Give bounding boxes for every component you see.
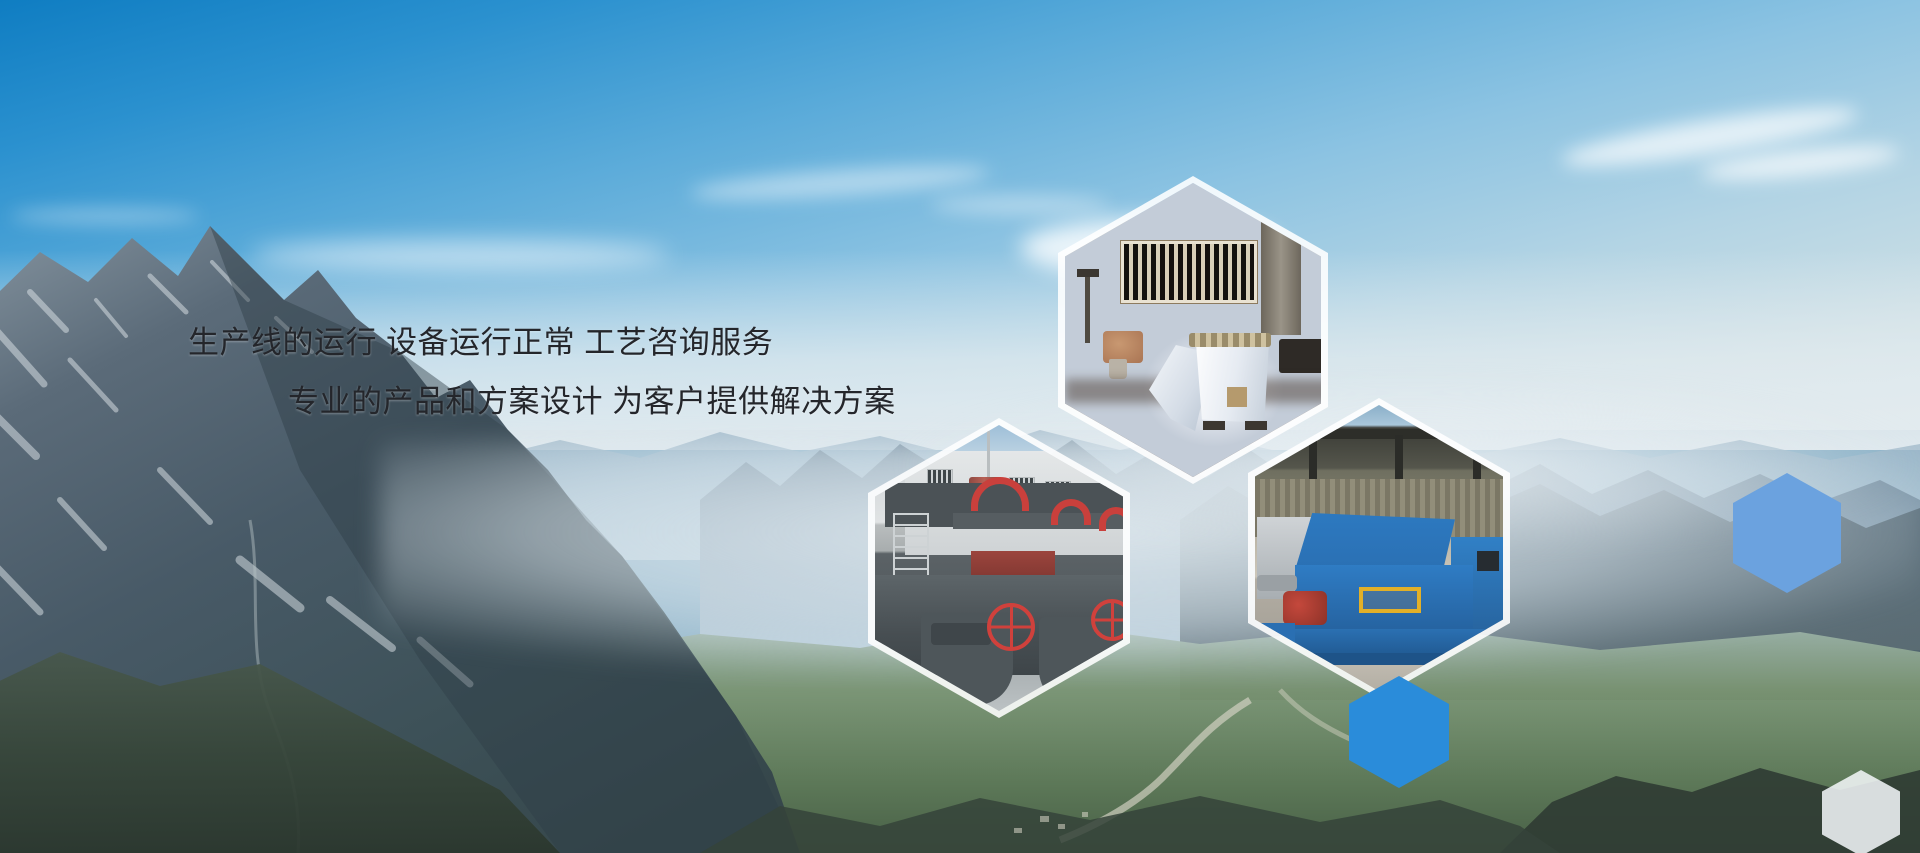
headline-block: 生产线的运行 设备运行正常 工艺咨询服务 专业的产品和方案设计 为客户提供解决方… (188, 327, 968, 418)
hex-photo-middle-image (875, 425, 1123, 711)
hero-banner: 生产线的运行 设备运行正常 工艺咨询服务 专业的产品和方案设计 为客户提供解决方… (0, 0, 1920, 853)
headline-line-2: 专业的产品和方案设计 为客户提供解决方案 (188, 386, 968, 419)
hex-photo-right-image (1255, 405, 1503, 691)
headline-line-1: 生产线的运行 设备运行正常 工艺咨询服务 (188, 327, 968, 360)
